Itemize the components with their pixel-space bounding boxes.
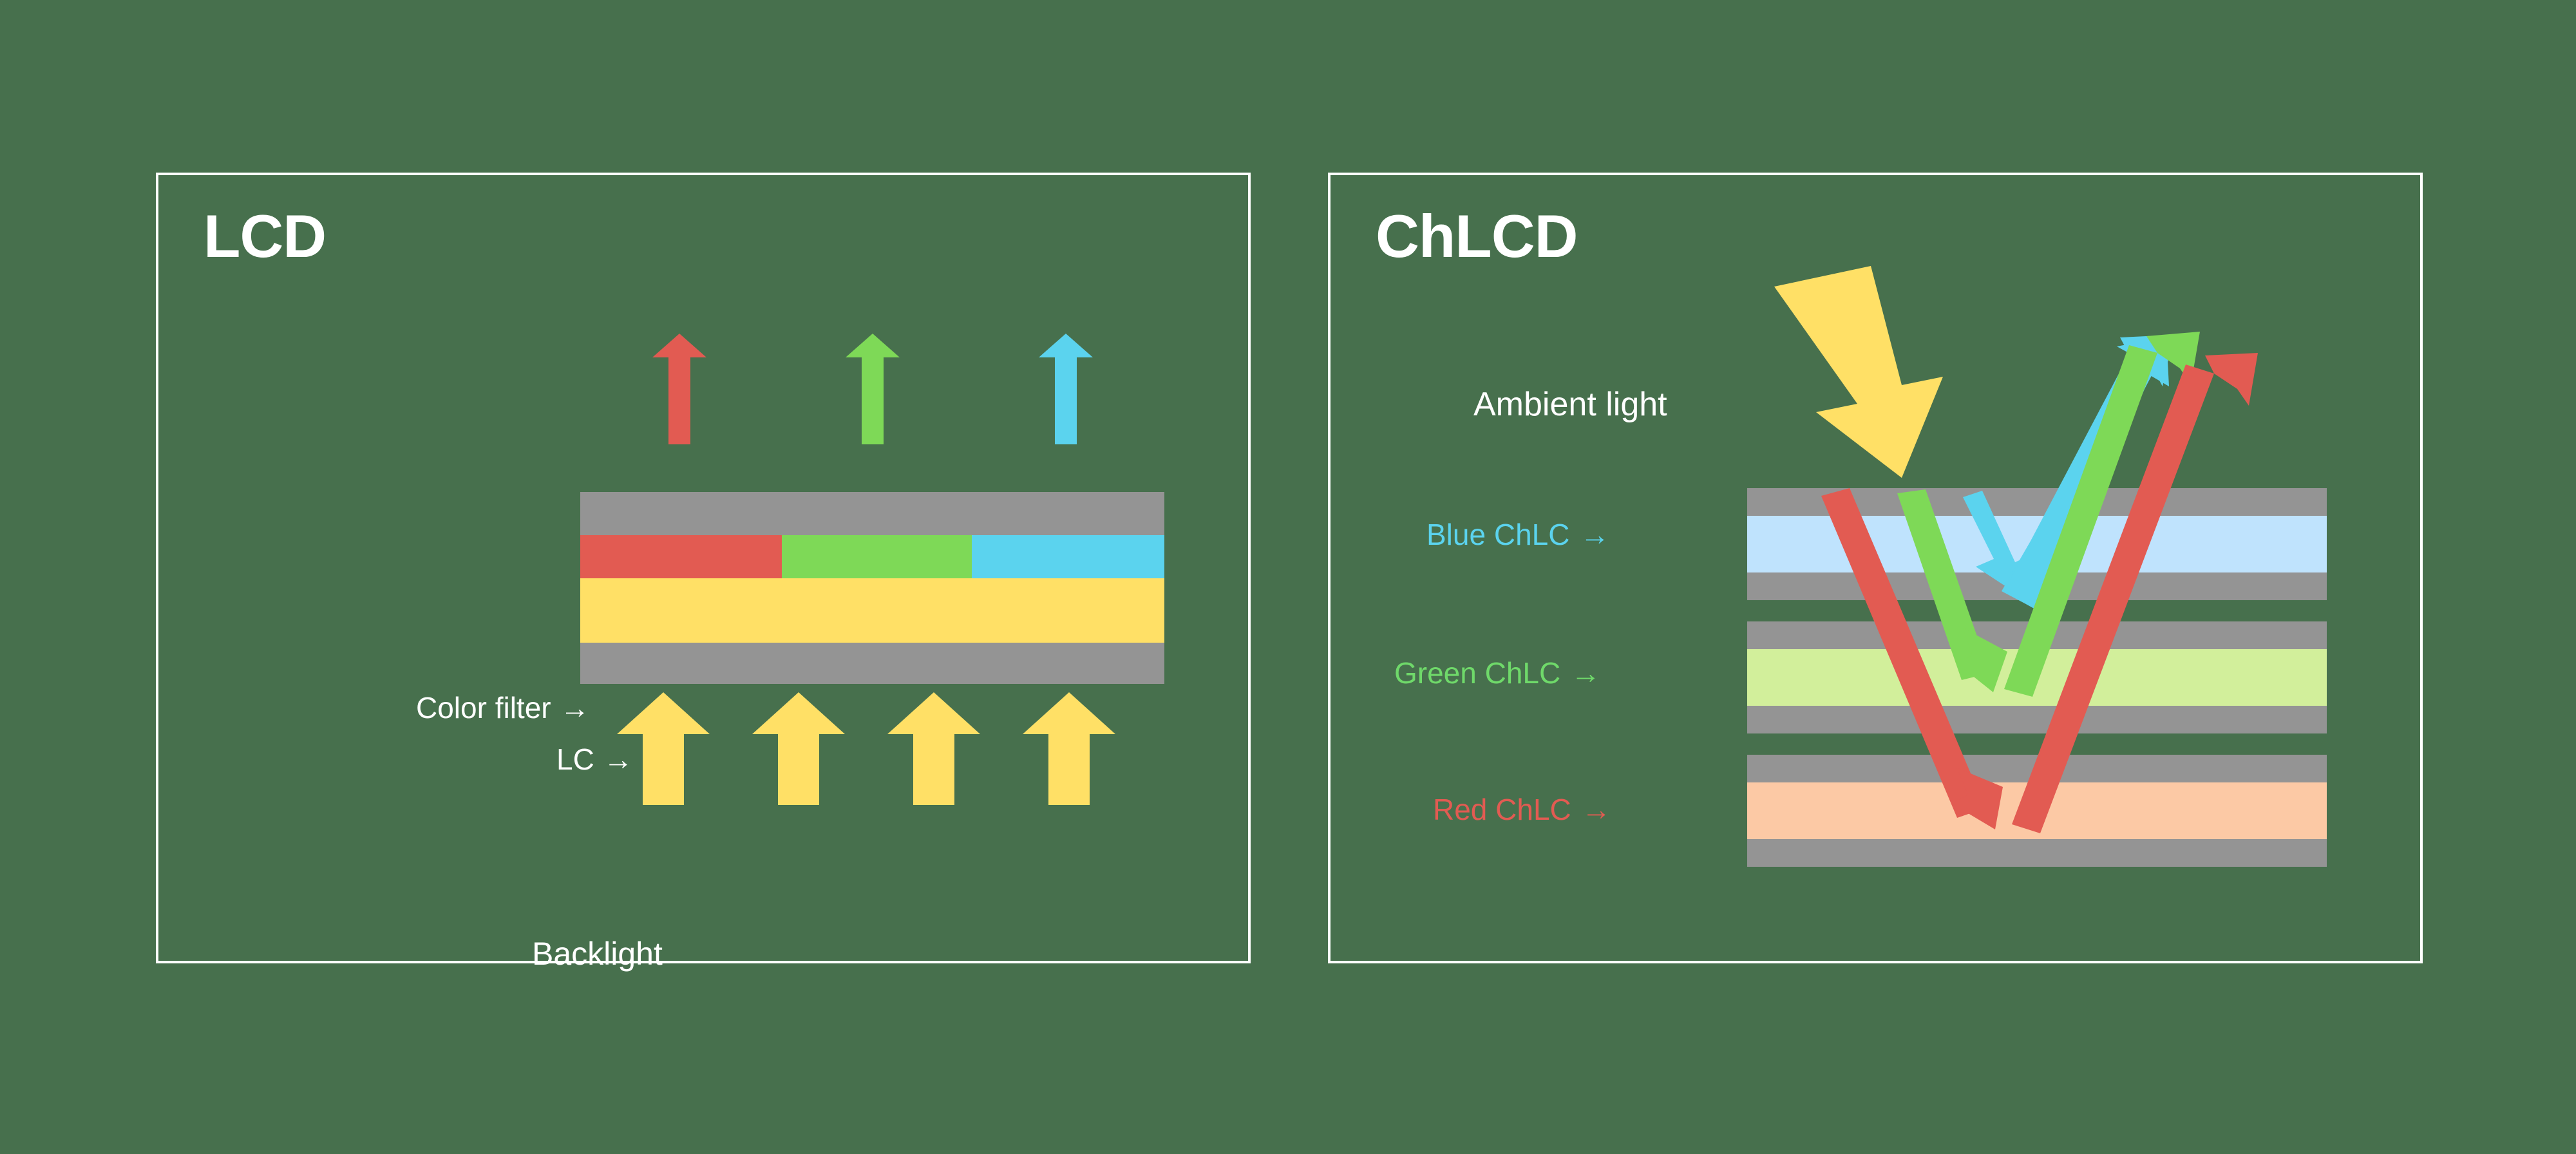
diagram-canvas: LCD Color filter → LC → Backlight ChLCD (0, 0, 2576, 1154)
right-arrow-icon: → (1582, 795, 1611, 824)
right-arrow-icon: → (603, 744, 633, 774)
blue-chlc-group (1747, 488, 2327, 600)
lcd-layer-stack (580, 492, 1164, 684)
red-electrode-bottom (1747, 839, 2327, 867)
color-filter-blue-segment (972, 535, 1164, 578)
lc-label-text: LC (556, 742, 594, 777)
right-arrow-icon: → (1580, 520, 1609, 549)
lcd-substrate-bottom (580, 643, 1164, 684)
lcd-panel: LCD Color filter → LC → Backlight (156, 173, 1251, 963)
red-chlc-label: Red ChLC → (1433, 792, 1611, 827)
blue-chlc-label-text: Blue ChLC (1426, 517, 1569, 552)
green-chlc-label: Green ChLC → (1394, 656, 1600, 690)
right-arrow-icon: → (1571, 658, 1600, 688)
lcd-liquid-crystal-layer (580, 578, 1164, 643)
color-filter-label: Color filter → (416, 690, 590, 725)
red-chlc-group (1747, 755, 2327, 867)
color-filter-red-segment (580, 535, 782, 578)
lc-label: LC → (556, 742, 633, 777)
green-electrode-top (1747, 621, 2327, 649)
chlcd-panel-title: ChLCD (1376, 206, 1578, 267)
right-arrow-icon: → (560, 693, 590, 723)
green-chlc-layer (1747, 649, 2327, 706)
color-filter-green-segment (782, 535, 972, 578)
green-chlc-label-text: Green ChLC (1394, 656, 1560, 690)
green-chlc-group (1747, 621, 2327, 733)
lcd-color-filter-row (580, 535, 1164, 578)
red-electrode-top (1747, 755, 2327, 782)
blue-chlc-layer (1747, 516, 2327, 572)
color-filter-label-text: Color filter (416, 690, 551, 725)
lcd-substrate-top (580, 492, 1164, 535)
red-chlc-label-text: Red ChLC (1433, 792, 1571, 827)
red-chlc-layer (1747, 782, 2327, 839)
blue-electrode-top (1747, 488, 2327, 516)
ambient-light-label: Ambient light (1473, 385, 1667, 424)
backlight-caption: Backlight (532, 935, 663, 972)
lcd-panel-title: LCD (204, 206, 326, 267)
green-electrode-bottom (1747, 706, 2327, 733)
blue-electrode-bottom (1747, 572, 2327, 600)
chlcd-layer-stack (1747, 488, 2327, 868)
blue-chlc-label: Blue ChLC → (1426, 517, 1609, 552)
